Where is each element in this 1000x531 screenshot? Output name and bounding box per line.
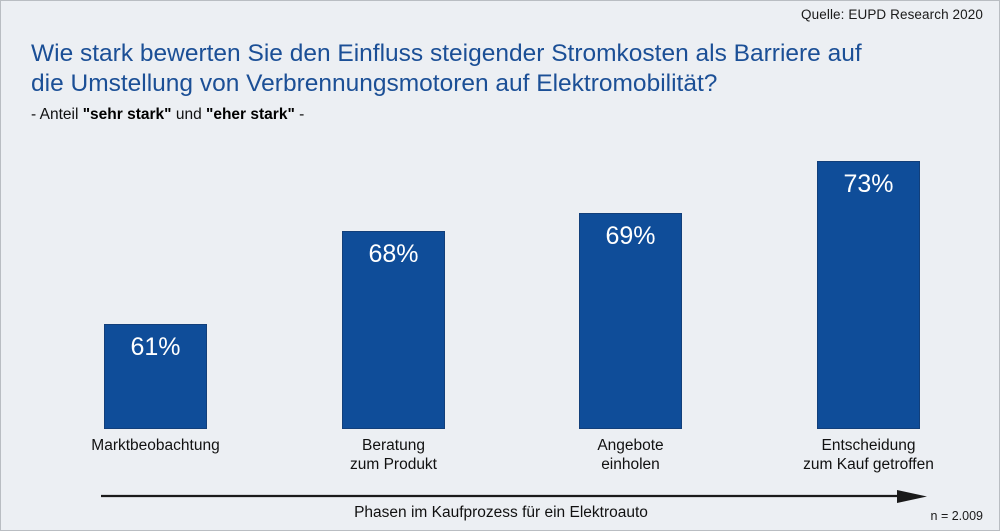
category-label: Entscheidung zum Kauf getroffen — [757, 436, 980, 474]
plot-area: 61% Marktbeobachtung 68% Beratung zum Pr… — [1, 1, 1000, 531]
category-label: Beratung zum Produkt — [282, 436, 505, 474]
arrow-right-icon — [897, 490, 927, 503]
bar[interactable]: 73% — [817, 161, 920, 429]
category-label-line: zum Kauf getroffen — [757, 455, 980, 474]
bar[interactable]: 69% — [579, 213, 682, 429]
category-label: Marktbeobachtung — [44, 436, 267, 455]
sample-size-note: n = 2.009 — [931, 509, 983, 523]
bar[interactable]: 68% — [342, 231, 445, 429]
category-label-line: zum Produkt — [282, 455, 505, 474]
bar-value-label: 61% — [105, 333, 206, 361]
category-label-line: Beratung — [282, 436, 505, 455]
bar-group: 69% Angebote einholen — [579, 213, 682, 429]
bar[interactable]: 61% — [104, 324, 207, 429]
category-label-line: Marktbeobachtung — [44, 436, 267, 455]
category-label: Angebote einholen — [519, 436, 742, 474]
chart-slide: Quelle: EUPD Research 2020 Wie stark bew… — [0, 0, 1000, 531]
category-label-line: Angebote — [519, 436, 742, 455]
bar-group: 68% Beratung zum Produkt — [342, 231, 445, 429]
category-label-line: Entscheidung — [757, 436, 980, 455]
bar-group: 61% Marktbeobachtung — [104, 324, 207, 429]
bar-value-label: 73% — [818, 170, 919, 198]
bar-group: 73% Entscheidung zum Kauf getroffen — [817, 161, 920, 429]
category-label-line: einholen — [519, 455, 742, 474]
bar-value-label: 68% — [343, 240, 444, 268]
x-axis-caption: Phasen im Kaufprozess für ein Elektroaut… — [1, 504, 1000, 522]
bar-value-label: 69% — [580, 222, 681, 250]
x-axis-arrow — [101, 490, 929, 504]
